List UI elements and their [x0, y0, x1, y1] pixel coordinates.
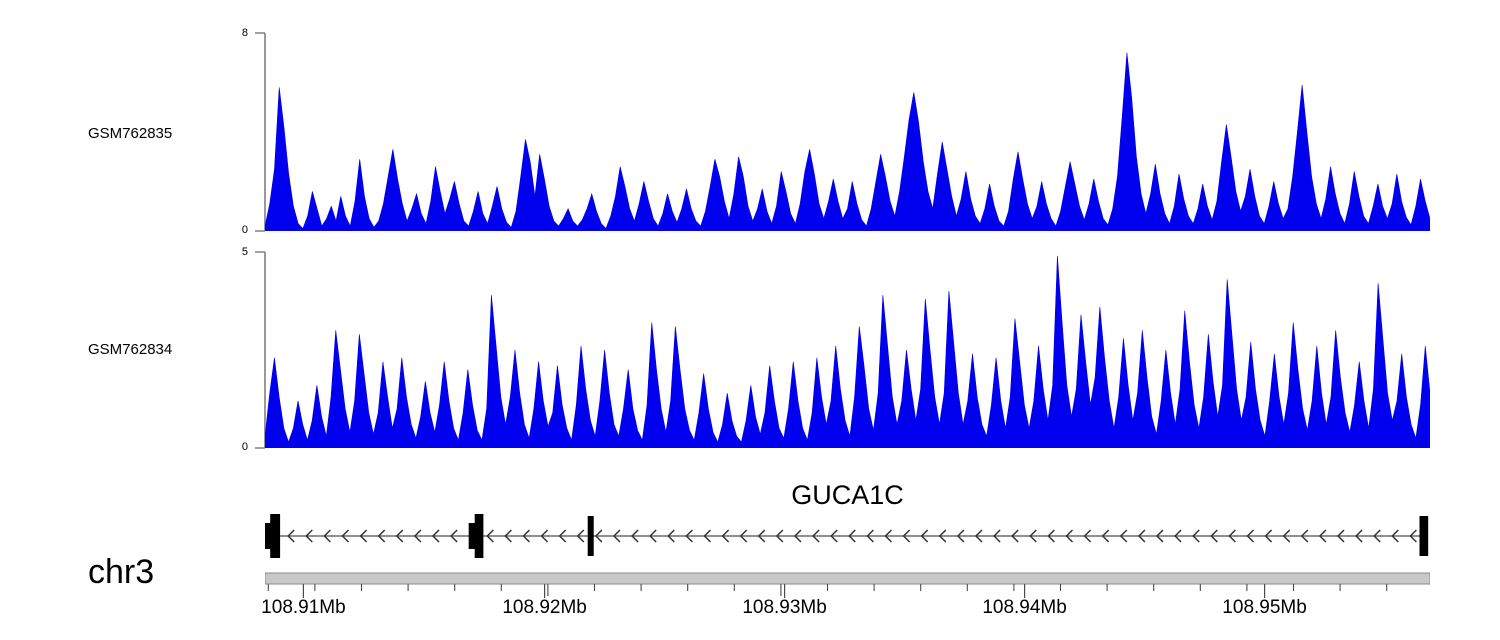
ruler-bar [265, 573, 1430, 584]
coverage-track-gsm762835 [265, 33, 1430, 231]
exon-block[interactable] [475, 514, 484, 558]
coverage-plot-bottom [265, 252, 1430, 448]
gene-model-track[interactable] [265, 512, 1430, 560]
genome-ruler-bar [265, 572, 1430, 598]
ruler-tick-label: 108.93Mb [742, 597, 827, 619]
genome-browser: GSM762835 8 0 GSM762834 5 0 GUCA1C 108.9… [0, 0, 1500, 640]
coverage-plot-top [265, 33, 1430, 231]
yaxis-min-label-top: 0 [218, 224, 248, 236]
coverage-area [265, 256, 1430, 448]
ruler-tick-label: 108.94Mb [982, 597, 1067, 619]
genome-ruler[interactable] [265, 572, 1430, 598]
yaxis-max-label-top: 8 [218, 27, 248, 39]
track-label-gsm762834: GSM762834 [88, 341, 172, 358]
coverage-area [265, 53, 1430, 231]
exon-block[interactable] [270, 514, 280, 558]
exon-block[interactable] [1420, 516, 1429, 556]
track-label-gsm762835: GSM762835 [88, 125, 172, 142]
gene-name-label: GUCA1C [265, 480, 1430, 511]
yaxis-max-label-bottom: 5 [218, 246, 248, 258]
genome-ruler-labels: 108.91Mb108.92Mb108.93Mb108.94Mb108.95Mb [265, 597, 1430, 627]
ruler-tick-label: 108.91Mb [261, 597, 346, 619]
exon-utr-block[interactable] [469, 523, 476, 549]
chromosome-label: chr3 [88, 553, 154, 592]
yaxis-min-label-bottom: 0 [218, 441, 248, 453]
ruler-tick-label: 108.92Mb [502, 597, 587, 619]
exon-utr-block[interactable] [265, 523, 271, 549]
exon-block[interactable] [588, 516, 594, 556]
coverage-track-gsm762834 [265, 252, 1430, 448]
gene-model-glyph [265, 512, 1430, 560]
ruler-tick-label: 108.95Mb [1222, 597, 1307, 619]
